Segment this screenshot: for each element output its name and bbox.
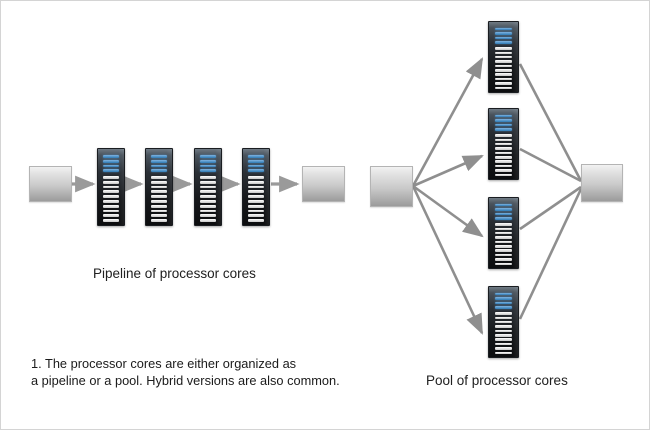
- rack-bar-blue: [151, 160, 167, 163]
- rack-bar-blue: [248, 160, 264, 163]
- pool-fanin-arrows: [520, 64, 581, 319]
- rack-bar-white: [151, 200, 167, 203]
- rack-bar-white: [200, 186, 216, 189]
- rack-bar-blue: [103, 155, 119, 158]
- rack-bar-blue: [495, 28, 513, 30]
- rack-bar-blue: [495, 302, 513, 304]
- rack-bar-blue: [495, 306, 513, 308]
- rack-bar-white: [103, 190, 119, 193]
- rack-bar-white: [495, 249, 513, 251]
- pipeline-core-1: [97, 148, 125, 226]
- rack-bar-blue: [103, 160, 119, 163]
- rack-bar-white: [248, 205, 264, 208]
- rack-bar-white: [495, 56, 513, 58]
- rack-bar-blue: [248, 155, 264, 158]
- rack-bar-white: [200, 176, 216, 179]
- rack-bar-white: [495, 245, 513, 247]
- pipeline-output-box: [302, 166, 345, 202]
- rack-bar-white: [103, 195, 119, 198]
- rack-bar-blue: [495, 217, 513, 219]
- rack-bar-blue: [200, 165, 216, 168]
- pool-core-1: [488, 21, 519, 93]
- rack-bar-blue: [495, 37, 513, 39]
- rack-bar-white: [248, 210, 264, 213]
- rack-bar-white: [495, 317, 513, 319]
- pool-output-box: [581, 164, 623, 202]
- footnote-line-1: 1. The processor cores are either organi…: [31, 355, 340, 372]
- rack-bar-white: [495, 87, 513, 89]
- rack-bar-white: [495, 60, 513, 62]
- rack-bar-white: [495, 160, 513, 162]
- pipeline-input-box: [29, 166, 72, 202]
- rack-bar-white: [495, 169, 513, 171]
- rack-bar-blue: [495, 119, 513, 121]
- rack-bar-white: [248, 181, 264, 184]
- rack-bar-white: [495, 69, 513, 71]
- rack-bar-white: [495, 73, 513, 75]
- rack-bar-white: [495, 330, 513, 332]
- rack-bar-white: [495, 47, 513, 49]
- rack-bar-white: [103, 214, 119, 217]
- rack-bar-white: [200, 214, 216, 217]
- rack-bar-white: [495, 152, 513, 154]
- rack-bars: [101, 152, 121, 222]
- pipeline-caption: Pipeline of processor cores: [93, 266, 256, 281]
- footnote: 1. The processor cores are either organi…: [31, 355, 340, 389]
- rack-bar-white: [495, 156, 513, 158]
- rack-bar-white: [200, 190, 216, 193]
- rack-bar-white: [495, 52, 513, 54]
- rack-bar-white: [103, 205, 119, 208]
- rack-bars: [492, 201, 515, 265]
- rack-bar-white: [151, 176, 167, 179]
- rack-bar-white: [151, 190, 167, 193]
- rack-bar-blue: [151, 169, 167, 172]
- rack-bar-white: [248, 190, 264, 193]
- footnote-line-2: a pipeline or a pool. Hybrid versions ar…: [31, 372, 340, 389]
- rack-bar-white: [495, 325, 513, 327]
- rack-bar-white: [200, 181, 216, 184]
- rack-bar-white: [495, 223, 513, 225]
- rack-bar-white: [495, 143, 513, 145]
- rack-bar-white: [151, 214, 167, 217]
- rack-bar-blue: [200, 160, 216, 163]
- rack-bar-white: [495, 258, 513, 260]
- rack-bar-white: [200, 200, 216, 203]
- rack-bar-blue: [103, 169, 119, 172]
- rack-bar-blue: [495, 115, 513, 117]
- rack-bar-white: [495, 352, 513, 354]
- rack-bar-blue: [495, 128, 513, 130]
- rack-bar-blue: [495, 204, 513, 206]
- rack-bar-white: [495, 165, 513, 167]
- rack-bar-white: [495, 263, 513, 265]
- rack-bar-blue: [495, 41, 513, 43]
- rack-bar-white: [103, 219, 119, 222]
- rack-bar-white: [495, 232, 513, 234]
- pool-input-box: [370, 166, 413, 207]
- rack-bar-white: [103, 186, 119, 189]
- rack-bar-white: [495, 254, 513, 256]
- rack-bar-white: [151, 210, 167, 213]
- rack-bar-blue: [495, 124, 513, 126]
- rack-bar-white: [248, 219, 264, 222]
- rack-bar-white: [248, 176, 264, 179]
- rack-bar-white: [495, 334, 513, 336]
- rack-bar-blue: [495, 208, 513, 210]
- rack-bar-white: [495, 174, 513, 176]
- rack-bar-white: [103, 176, 119, 179]
- rack-bars: [198, 152, 218, 222]
- rack-bar-blue: [495, 297, 513, 299]
- pool-core-4: [488, 286, 519, 358]
- rack-bar-blue: [151, 165, 167, 168]
- pipeline-core-2: [145, 148, 173, 226]
- rack-bar-white: [495, 78, 513, 80]
- rack-bar-white: [103, 210, 119, 213]
- diagram-canvas: Pipeline of processor cores Pool of proc…: [0, 0, 650, 430]
- rack-bar-white: [495, 228, 513, 230]
- rack-bars: [492, 112, 515, 176]
- rack-bar-white: [495, 321, 513, 323]
- pool-caption: Pool of processor cores: [426, 373, 568, 388]
- rack-bar-blue: [151, 155, 167, 158]
- rack-bar-blue: [200, 155, 216, 158]
- rack-bar-blue: [103, 165, 119, 168]
- rack-bars: [492, 25, 515, 89]
- rack-bar-white: [495, 338, 513, 340]
- rack-bar-white: [103, 200, 119, 203]
- rack-bar-white: [248, 186, 264, 189]
- rack-bar-white: [151, 219, 167, 222]
- rack-bar-white: [200, 205, 216, 208]
- rack-bar-white: [200, 219, 216, 222]
- rack-bar-white: [495, 65, 513, 67]
- pool-core-2: [488, 108, 519, 180]
- rack-bar-white: [151, 181, 167, 184]
- rack-bar-white: [495, 241, 513, 243]
- rack-bar-white: [200, 210, 216, 213]
- pipeline-core-3: [194, 148, 222, 226]
- rack-bar-white: [495, 347, 513, 349]
- rack-bar-white: [151, 205, 167, 208]
- rack-bar-white: [103, 181, 119, 184]
- rack-bar-white: [248, 214, 264, 217]
- rack-bar-white: [495, 343, 513, 345]
- rack-bars: [246, 152, 266, 222]
- pipeline-core-4: [242, 148, 270, 226]
- rack-bar-blue: [495, 32, 513, 34]
- rack-bar-blue: [200, 169, 216, 172]
- rack-bar-blue: [495, 293, 513, 295]
- rack-bar-blue: [495, 213, 513, 215]
- rack-bars: [492, 290, 515, 354]
- rack-bar-white: [495, 139, 513, 141]
- rack-bar-white: [495, 82, 513, 84]
- rack-bar-white: [151, 195, 167, 198]
- rack-bar-blue: [248, 169, 264, 172]
- rack-bar-white: [495, 312, 513, 314]
- rack-bars: [149, 152, 169, 222]
- pool-fanout-arrows: [413, 59, 482, 333]
- rack-bar-blue: [248, 165, 264, 168]
- rack-bar-white: [495, 236, 513, 238]
- rack-bar-white: [200, 195, 216, 198]
- rack-bar-white: [248, 200, 264, 203]
- rack-bar-white: [495, 147, 513, 149]
- pool-core-3: [488, 197, 519, 269]
- rack-bar-white: [248, 195, 264, 198]
- rack-bar-white: [495, 134, 513, 136]
- rack-bar-white: [151, 186, 167, 189]
